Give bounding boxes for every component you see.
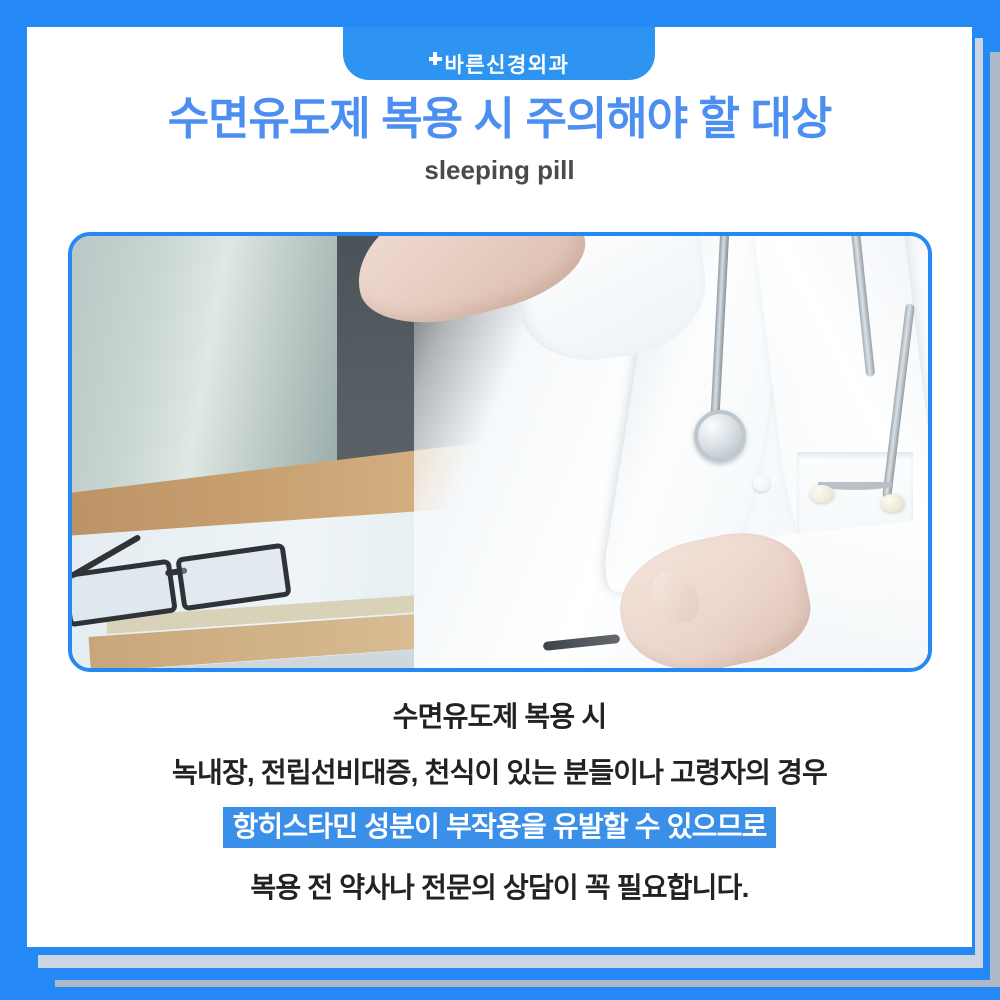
page-subtitle: sleeping pill [27,155,972,186]
stethoscope-eartip-left [810,485,834,503]
stethoscope-chestpiece [694,410,746,462]
medical-cross-icon [429,52,442,65]
body-copy: 수면유도제 복용 시 녹내장, 전립선비대증, 천식이 있는 분들이나 고령자의… [27,695,972,906]
hero-photo [72,236,928,668]
coat-button [753,475,770,492]
page-title: 수면유도제 복용 시 주의해야 할 대상 [27,82,972,147]
clinic-badge-label: 바른신경외과 [445,54,570,75]
content-card: 바른신경외과 수면유도제 복용 시 주의해야 할 대상 sleeping pil… [27,27,972,947]
body-line-4: 복용 전 약사나 전문의 상담이 꼭 필요합니다. [27,866,972,906]
body-line-2: 녹내장, 전립선비대증, 천식이 있는 분들이나 고령자의 경우 [27,751,972,791]
highlight-text: 항히스타민 성분이 부작용을 유발할 수 있으므로 [223,807,775,848]
eyeglasses-lens-right [176,543,293,612]
clinic-badge[interactable]: 바른신경외과 [343,27,655,80]
body-line-1: 수면유도제 복용 시 [27,695,972,735]
hero-photo-frame [68,232,932,672]
body-line-3-highlighted: 항히스타민 성분이 부작용을 유발할 수 있으므로 [27,807,972,848]
